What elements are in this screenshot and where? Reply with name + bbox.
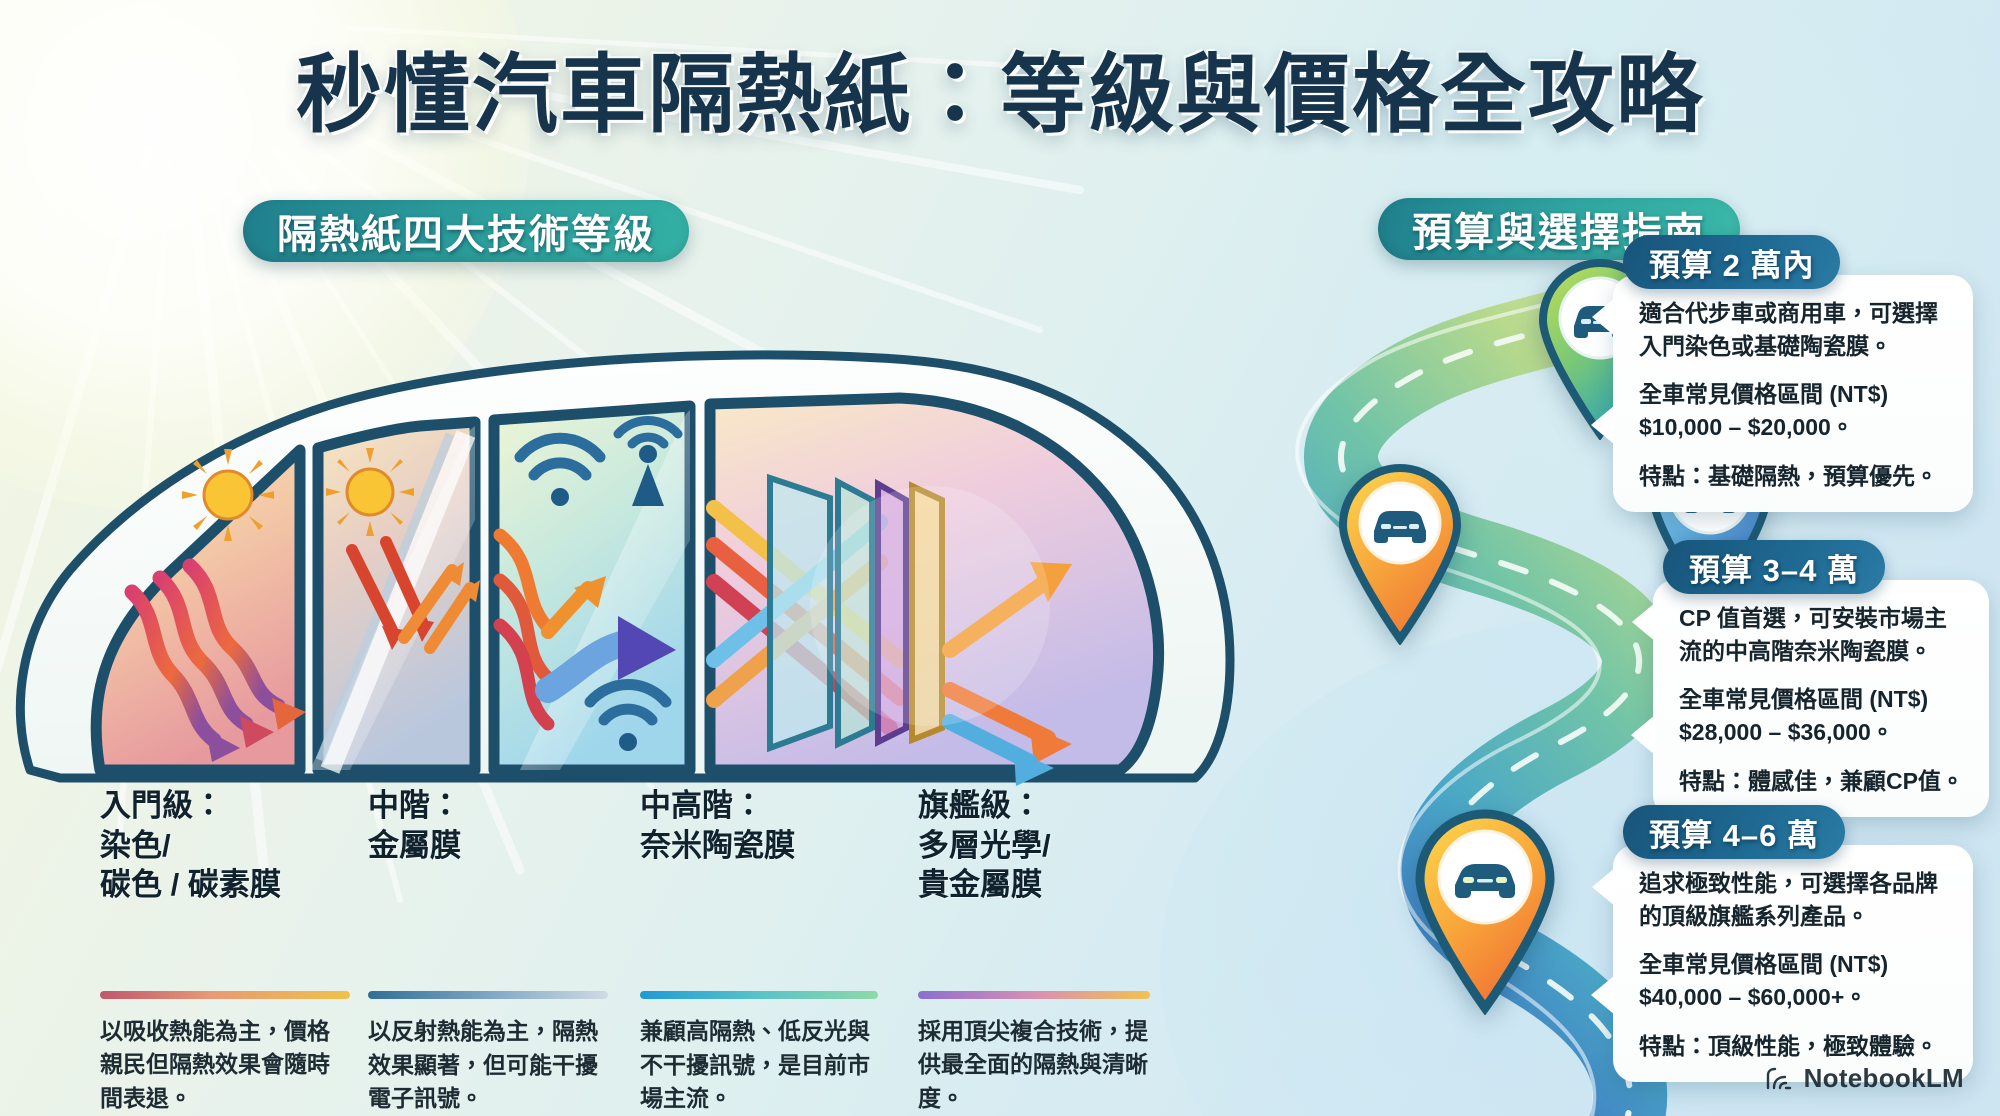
budget-card-3: 追求極致性能，可選擇各品牌的頂級旗艦系列產品。 全車常見價格區間 (NT$) $… xyxy=(1613,845,1973,1082)
panel-metal-film xyxy=(310,422,480,770)
sun-icon xyxy=(326,448,414,536)
tier-title: 旗艦級： 多層光學/ 貴金屬膜 xyxy=(918,786,1150,905)
watermark-label: NotebookLM xyxy=(1804,1063,1964,1094)
callout-tail xyxy=(1591,405,1615,445)
page-title: 秒懂汽車隔熱紙：等級與價格全攻略 xyxy=(0,24,2000,149)
budget-card-line1: 追求極致性能，可選擇各品牌的頂級旗艦系列產品。 xyxy=(1639,867,1951,932)
map-pin-budget-3[interactable] xyxy=(1400,800,1570,1015)
tier-divider xyxy=(368,991,608,999)
car-cutaway-illustration xyxy=(0,330,1300,800)
callout-tail xyxy=(1631,715,1655,755)
budget-card-line2: 全車常見價格區間 (NT$) $10,000 – $20,000。 xyxy=(1639,378,1951,443)
map-pin-budget-2-alt[interactable] xyxy=(1325,455,1475,645)
tier-description: 採用頂尖複合技術，提供最全面的隔熱與清晰度。 xyxy=(918,1015,1150,1115)
tier-label-group: 入門級： 染色/ 碳色 / 碳素膜 以吸收熱能為主，價格親民但隔熱效果會隨時間表… xyxy=(0,786,1250,1086)
notebooklm-logo-icon xyxy=(1764,1066,1794,1092)
tier-upper-mid-level: 中高階： 奈米陶瓷膜 兼顧高隔熱、低反光與不干擾訊號，是目前市場主流。 xyxy=(640,786,878,1115)
budget-badge-2: 預算 3–4 萬 xyxy=(1663,540,1885,594)
tier-description: 以反射熱能為主，隔熱效果顯著，但可能干擾電子訊號。 xyxy=(368,1015,608,1115)
budget-badge-1: 預算 2 萬內 xyxy=(1623,235,1840,289)
infographic-canvas: 秒懂汽車隔熱紙：等級與價格全攻略 隔熱紙四大技術等級 預算與選擇指南 xyxy=(0,0,2000,1116)
tier-divider xyxy=(918,991,1150,999)
watermark: NotebookLM xyxy=(1764,1063,1964,1094)
tier-title: 中高階： 奈米陶瓷膜 xyxy=(640,786,878,865)
budget-badge-3: 預算 4–6 萬 xyxy=(1623,805,1845,859)
budget-card-2: CP 值首選，可安裝市場主流的中高階奈米陶瓷膜。 全車常見價格區間 (NT$) … xyxy=(1653,580,1989,817)
budget-card-line3: 特點：頂級性能，極致體驗。 xyxy=(1639,1030,1951,1063)
panel-nano-ceramic xyxy=(494,406,690,770)
tier-flagship-level: 旗艦級： 多層光學/ 貴金屬膜 採用頂尖複合技術，提供最全面的隔熱與清晰度。 xyxy=(918,786,1150,1115)
budget-guide-group: 預算 2 萬內 適合代步車或商用車，可選擇入門染色或基礎陶瓷膜。 全車常見價格區… xyxy=(1225,255,2000,1116)
tier-divider xyxy=(100,991,350,999)
sun-icon xyxy=(182,449,274,541)
tier-entry-level: 入門級： 染色/ 碳色 / 碳素膜 以吸收熱能為主，價格親民但隔熱效果會隨時間表… xyxy=(100,786,350,1115)
tier-description: 兼顧高隔熱、低反光與不干擾訊號，是目前市場主流。 xyxy=(640,1015,878,1115)
budget-card-line3: 特點：基礎隔熱，預算優先。 xyxy=(1639,460,1951,493)
tier-divider xyxy=(640,991,878,999)
tier-title: 入門級： 染色/ 碳色 / 碳素膜 xyxy=(100,786,350,905)
section-heading-tiers: 隔熱紙四大技術等級 xyxy=(243,200,689,262)
budget-card-line1: 適合代步車或商用車，可選擇入門染色或基礎陶瓷膜。 xyxy=(1639,297,1951,362)
callout-tail xyxy=(1591,975,1615,1015)
budget-card-line1: CP 值首選，可安裝市場主流的中高階奈米陶瓷膜。 xyxy=(1679,602,1967,667)
tier-title: 中階： 金屬膜 xyxy=(368,786,608,865)
budget-card-1: 適合代步車或商用車，可選擇入門染色或基礎陶瓷膜。 全車常見價格區間 (NT$) … xyxy=(1613,275,1973,512)
tier-description: 以吸收熱能為主，價格親民但隔熱效果會隨時間表退。 xyxy=(100,1015,350,1115)
tier-mid-level: 中階： 金屬膜 以反射熱能為主，隔熱效果顯著，但可能干擾電子訊號。 xyxy=(368,786,608,1115)
budget-card-line3: 特點：體感佳，兼顧CP值。 xyxy=(1679,765,1967,798)
budget-card-line2: 全車常見價格區間 (NT$) $40,000 – $60,000+。 xyxy=(1639,948,1951,1013)
budget-card-line2: 全車常見價格區間 (NT$) $28,000 – $36,000。 xyxy=(1679,683,1967,748)
